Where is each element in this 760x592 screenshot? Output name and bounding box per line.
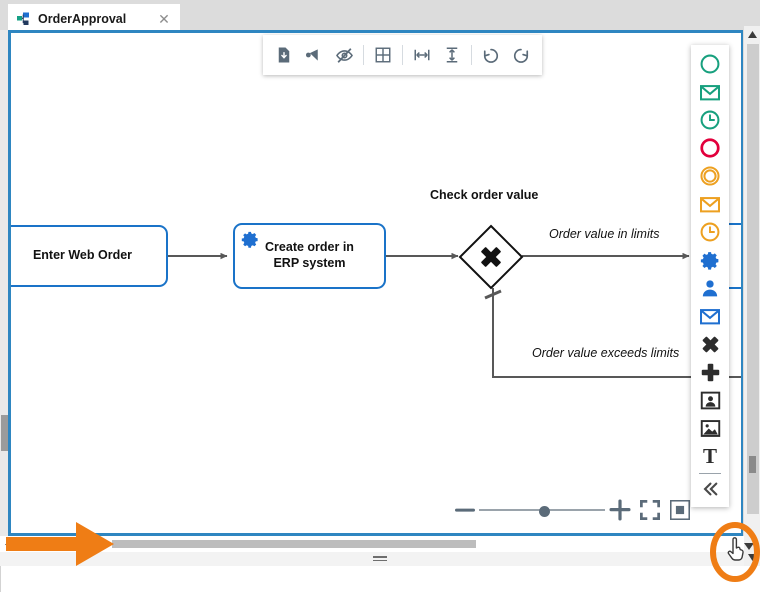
zoom-controls [451,497,695,523]
align-vertical-icon[interactable] [438,40,466,70]
redo-icon[interactable] [507,40,535,70]
fit-to-screen-button[interactable] [635,497,665,523]
parallel-gateway-icon[interactable] [695,358,725,386]
gateway-check-order-value[interactable] [458,224,524,290]
scrollbar-thumb[interactable] [747,44,759,514]
send-task-icon[interactable] [695,302,725,330]
end-event-icon[interactable] [695,134,725,162]
app-window: OrderApproval ✕ [0,0,760,592]
share-icon[interactable] [300,40,328,70]
flow-label-in-limits: Order value in limits [549,227,659,241]
align-horizontal-icon[interactable] [408,40,436,70]
task-create-order-erp[interactable]: Create order in ERP system [233,223,386,289]
callout-arrow [4,519,116,574]
element-palette: T [691,45,729,507]
message-start-event-icon[interactable] [695,78,725,106]
palette-divider [699,473,721,474]
image-icon[interactable] [695,414,725,442]
collapse-palette-icon[interactable] [695,475,725,503]
mouse-cursor-hand-icon [726,537,746,568]
zoom-slider[interactable] [479,498,605,522]
intermediate-event-icon[interactable] [695,162,725,190]
message-intermediate-event-icon[interactable] [695,190,725,218]
text-annotation-icon[interactable]: T [695,442,725,470]
exclusive-gateway-icon[interactable] [695,330,725,358]
user-task-icon[interactable] [695,274,725,302]
splitter-grip-icon [373,556,387,561]
zoom-out-button[interactable] [451,498,479,522]
window-vertical-scrollbar[interactable] [743,26,760,566]
gateway-label: Check order value [430,188,538,202]
tab-label: OrderApproval [38,12,156,26]
bpmn-file-icon [16,11,32,27]
scrollbar-thumb[interactable] [112,540,476,548]
task-label: Enter Web Order [33,248,132,264]
zoom-slider-handle[interactable] [539,506,550,517]
save-download-icon[interactable] [270,40,298,70]
diagram-toolbar [263,35,542,75]
zoom-in-button[interactable] [605,497,635,523]
timer-start-event-icon[interactable] [695,106,725,134]
bpmn-diagram: Enter Web Order Create order in ERP syst… [11,33,741,533]
pool-lane-icon[interactable] [695,386,725,414]
toolbar-divider [363,45,364,65]
task-enter-web-order[interactable]: Enter Web Order [11,225,168,287]
service-task-gear-icon [241,230,260,254]
scroll-up-arrow[interactable] [744,26,760,43]
start-event-icon[interactable] [695,50,725,78]
close-icon[interactable]: ✕ [156,11,172,27]
timer-intermediate-event-icon[interactable] [695,218,725,246]
task-label: Create order in ERP system [265,240,354,271]
undo-icon[interactable] [477,40,505,70]
service-task-icon[interactable] [695,246,725,274]
tab-bar: OrderApproval ✕ [0,0,760,34]
scrollbar-thumb[interactable] [1,415,8,451]
toolbar-divider [471,45,472,65]
flow-label-exceeds-limits: Order value exceeds limits [532,346,679,360]
hide-eye-icon[interactable] [330,40,358,70]
toolbar-divider [402,45,403,65]
scrollbar-grip [749,456,756,473]
grid-icon[interactable] [369,40,397,70]
diagram-canvas[interactable]: Enter Web Order Create order in ERP syst… [8,30,744,536]
